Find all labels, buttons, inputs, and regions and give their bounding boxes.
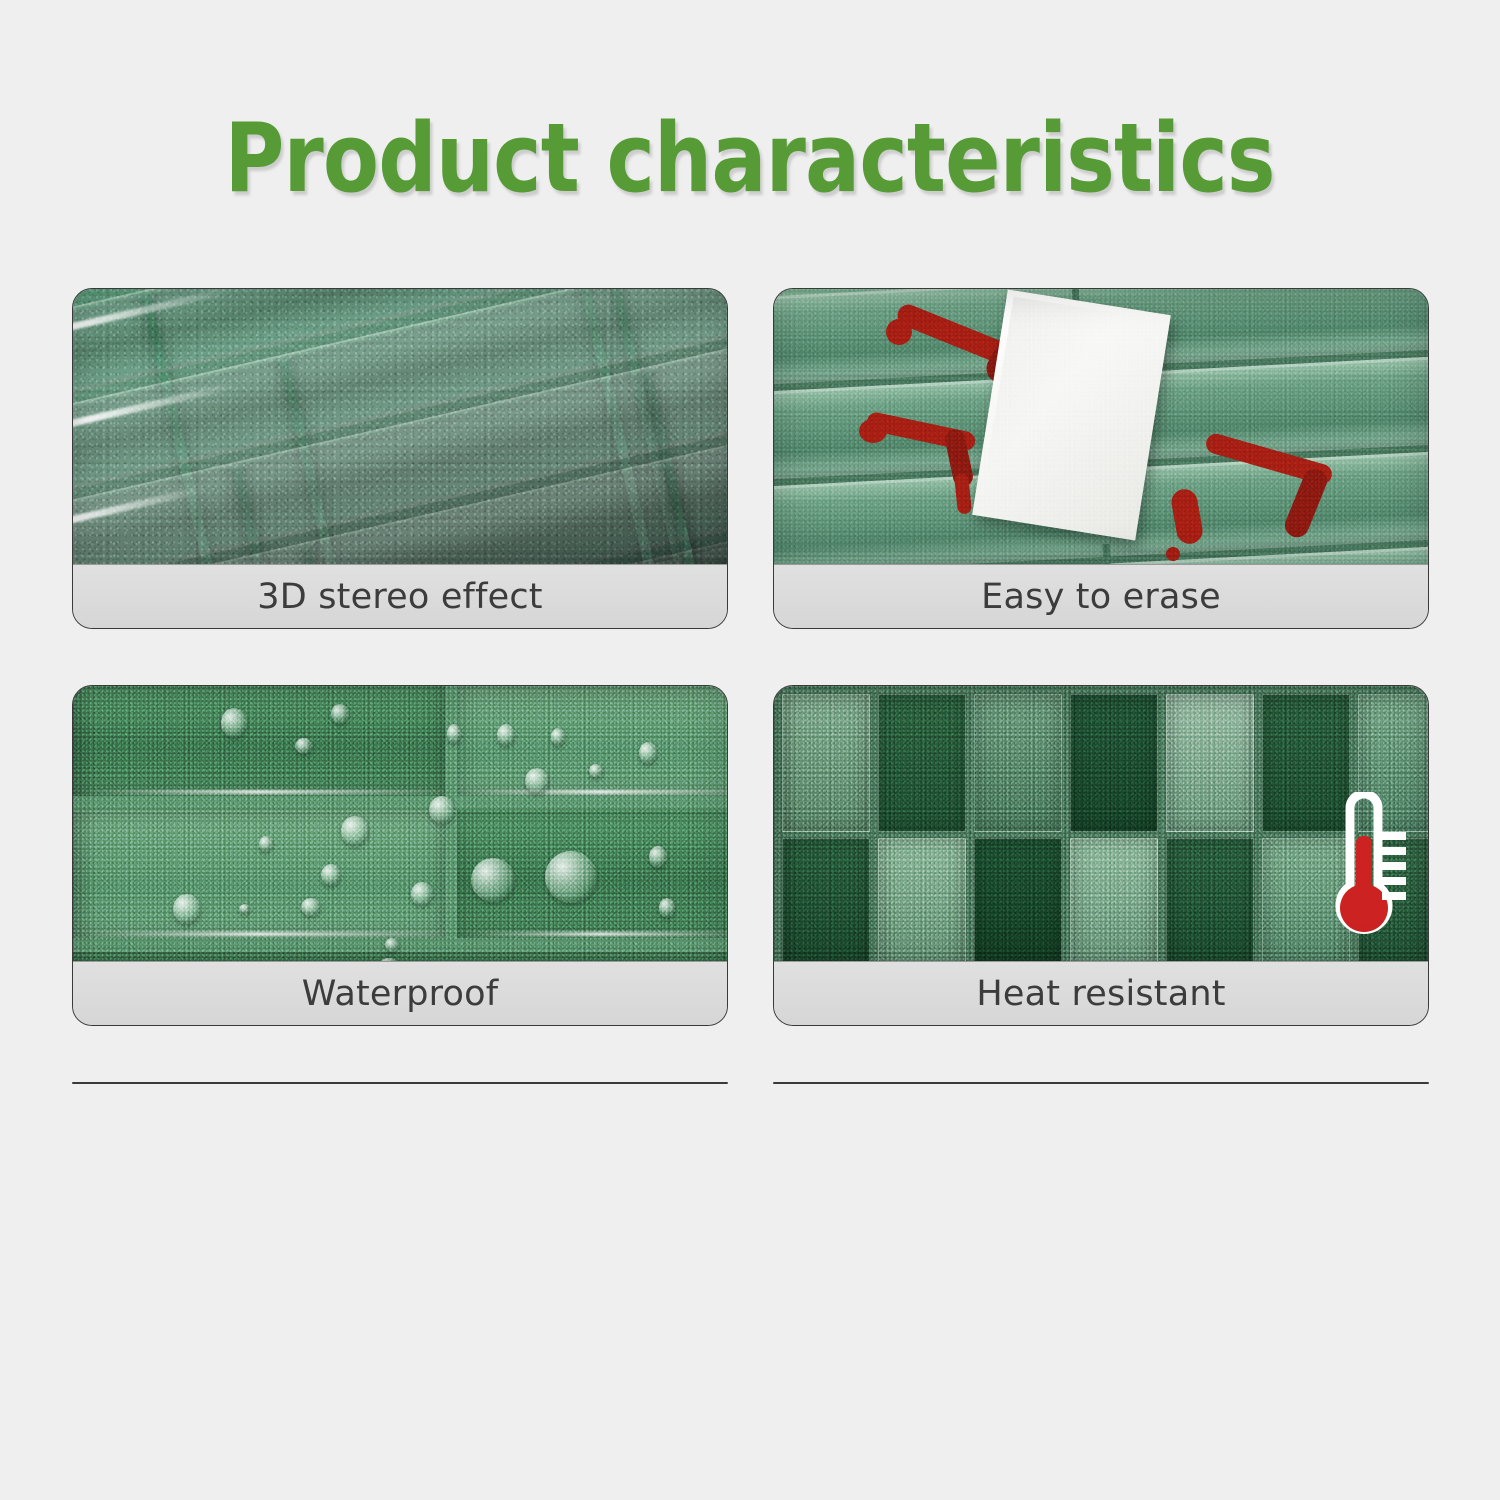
feature-card-grid: 3D stereo effect	[72, 288, 1429, 1084]
feature-image-shear-block	[774, 1083, 1428, 1084]
thermometer-icon	[1312, 792, 1408, 950]
feature-caption-waterproof: Waterproof	[73, 961, 727, 1025]
feature-image-heat-resistant	[774, 686, 1428, 964]
feature-card-heat-resistant[interactable]: Heat resistant	[773, 685, 1429, 1026]
feature-image-3d-stereo-effect	[73, 289, 727, 567]
feature-card-3d-stereo-effect[interactable]: 3D stereo effect	[72, 288, 728, 629]
feature-card-waterproof[interactable]: Waterproof	[72, 685, 728, 1026]
feature-caption-heat-resistant: Heat resistant	[774, 961, 1428, 1025]
product-characteristics-infographic: Product characteristics	[0, 0, 1500, 1500]
feature-caption-label: Heat resistant	[976, 974, 1225, 1014]
feature-caption-strong-adhesive: Strong adhesive	[73, 1082, 727, 1083]
feature-caption-label: 3D stereo effect	[257, 577, 542, 617]
feature-caption-label: Easy to erase	[981, 577, 1221, 617]
feature-image-easy-to-erase	[774, 289, 1428, 567]
feature-card-shear-block[interactable]: Shear block	[773, 1082, 1429, 1084]
feature-caption-label: Waterproof	[302, 974, 498, 1014]
page-title: Product characteristics	[225, 112, 1275, 207]
feature-caption-3d-stereo-effect: 3D stereo effect	[73, 564, 727, 628]
feature-caption-easy-to-erase: Easy to erase	[774, 564, 1428, 628]
feature-card-strong-adhesive[interactable]: Strong adhesive	[72, 1082, 728, 1084]
feature-image-strong-adhesive	[73, 1083, 727, 1084]
page-title-container: Product characteristics	[0, 112, 1500, 207]
feature-caption-shear-block: Shear block	[774, 1082, 1428, 1083]
feature-image-waterproof	[73, 686, 727, 964]
feature-card-easy-to-erase[interactable]: Easy to erase	[773, 288, 1429, 629]
